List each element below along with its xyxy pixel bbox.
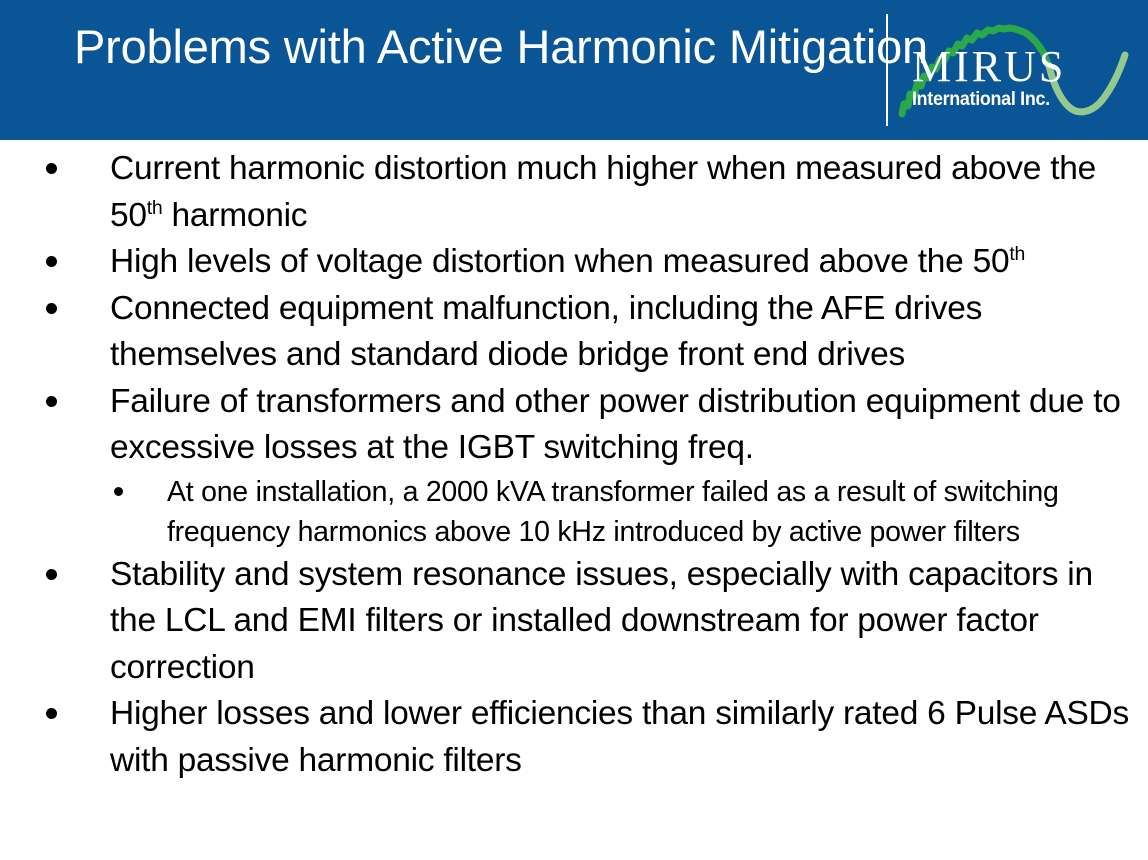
bullet-dot-icon bbox=[46, 256, 57, 267]
bullet-text-main: High levels of voltage distortion when m… bbox=[110, 243, 1009, 280]
bullet-text-main: Higher losses and lower efficiencies tha… bbox=[110, 695, 1129, 779]
header-divider bbox=[886, 14, 888, 126]
bullet-text-tail: harmonic bbox=[162, 197, 307, 234]
bullet-item: At one installation, a 2000 kVA transfor… bbox=[0, 472, 1148, 552]
bullet-dot-icon bbox=[46, 303, 57, 314]
bullet-dot-icon bbox=[114, 487, 123, 496]
bullet-text-superscript: th bbox=[1009, 243, 1025, 265]
bullet-item: Failure of transformers and other power … bbox=[0, 379, 1148, 472]
logo-wordmark: MIRUS International Inc. bbox=[912, 46, 1132, 111]
bullet-text: Higher losses and lower efficiencies tha… bbox=[110, 691, 1132, 784]
bullet-text-main: Stability and system resonance issues, e… bbox=[110, 556, 1093, 686]
bullet-text-main: At one installation, a 2000 kVA transfor… bbox=[167, 476, 1059, 548]
bullet-text-superscript: th bbox=[147, 196, 163, 218]
bullet-dot-icon bbox=[46, 708, 57, 719]
page-title: Problems with Active Harmonic Mitigation bbox=[74, 18, 864, 76]
bullet-text: High levels of voltage distortion when m… bbox=[110, 239, 1132, 286]
bullet-item: Stability and system resonance issues, e… bbox=[0, 552, 1148, 692]
mirus-logo: MIRUS International Inc. bbox=[896, 6, 1144, 134]
bullet-text-main: Connected equipment malfunction, includi… bbox=[110, 290, 982, 374]
bullet-text-main: Failure of transformers and other power … bbox=[110, 383, 1121, 467]
bullet-item: High levels of voltage distortion when m… bbox=[0, 239, 1148, 286]
slide-body: Current harmonic distortion much higher … bbox=[0, 146, 1148, 860]
bullet-item: Connected equipment malfunction, includi… bbox=[0, 286, 1148, 379]
bullet-text: Connected equipment malfunction, includi… bbox=[110, 286, 1132, 379]
bullet-dot-icon bbox=[46, 163, 57, 174]
logo-name: MIRUS bbox=[912, 46, 1132, 88]
bullet-text: At one installation, a 2000 kVA transfor… bbox=[167, 472, 1088, 552]
slide: Problems with Active Harmonic Mitigation… bbox=[0, 0, 1148, 860]
bullet-text: Failure of transformers and other power … bbox=[110, 379, 1132, 472]
bullet-dot-icon bbox=[46, 396, 57, 407]
bullet-item: Current harmonic distortion much higher … bbox=[0, 146, 1148, 239]
bullet-item: Higher losses and lower efficiencies tha… bbox=[0, 691, 1148, 784]
bullet-dot-icon bbox=[46, 569, 57, 580]
logo-tagline: International Inc. bbox=[912, 89, 1119, 111]
bullet-text: Stability and system resonance issues, e… bbox=[110, 552, 1132, 692]
bullet-text: Current harmonic distortion much higher … bbox=[110, 146, 1132, 239]
